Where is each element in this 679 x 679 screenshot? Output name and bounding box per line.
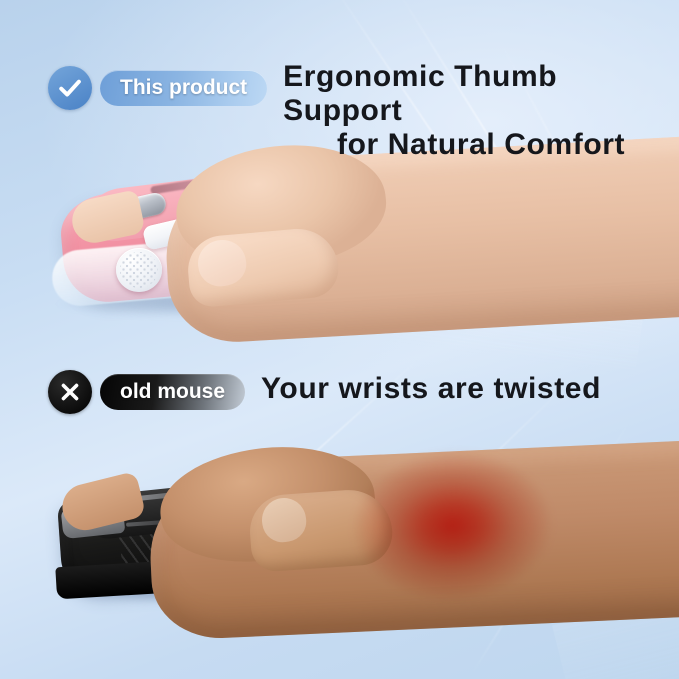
x-circle-icon bbox=[48, 370, 92, 414]
honeycomb-thumb-rest bbox=[116, 248, 162, 292]
this-product-badge: This product bbox=[100, 70, 267, 106]
old-mouse-headline: Your wrists are twisted bbox=[261, 372, 601, 406]
infographic-canvas: This product Ergonomic Thumb Support for… bbox=[0, 0, 679, 679]
headline-line-1: Ergonomic Thumb Support bbox=[283, 60, 679, 128]
old-mouse-scene: old mouse Your wrists are twisted bbox=[0, 340, 679, 679]
section-this-product: This product Ergonomic Thumb Support for… bbox=[0, 0, 679, 340]
check-circle-icon bbox=[48, 66, 92, 110]
this-product-headline: Ergonomic Thumb Support for Natural Comf… bbox=[283, 60, 679, 163]
this-product-header: This product Ergonomic Thumb Support for… bbox=[48, 66, 679, 163]
headline-line-2: for Natural Comfort bbox=[283, 128, 679, 162]
headline-line-1: Your wrists are twisted bbox=[261, 372, 601, 406]
old-mouse-badge: old mouse bbox=[100, 374, 245, 410]
red-pain-highlight bbox=[348, 441, 636, 619]
old-mouse-header: old mouse Your wrists are twisted bbox=[48, 370, 601, 414]
section-old-mouse: old mouse Your wrists are twisted bbox=[0, 340, 679, 679]
